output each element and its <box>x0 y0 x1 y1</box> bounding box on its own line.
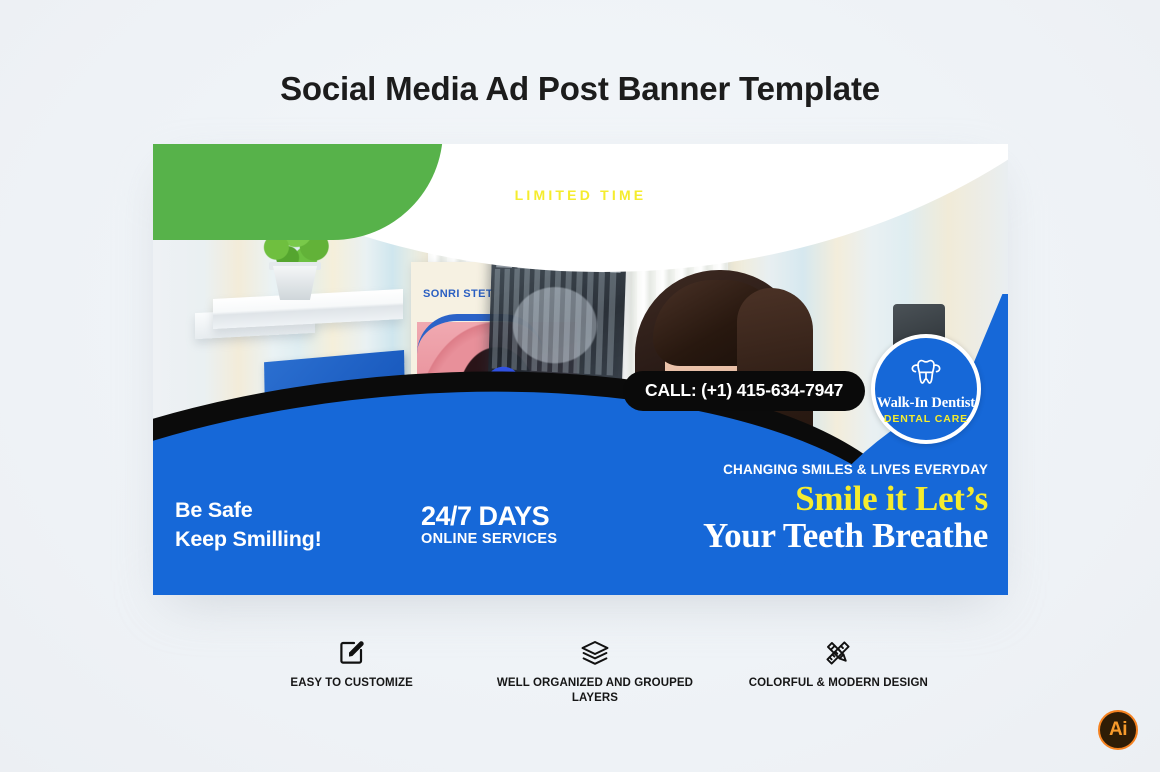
special-offer-main: Special Offer* <box>153 156 1008 186</box>
service-hours-sub: ONLINE SERVICES <box>421 531 557 547</box>
feature-label: COLORFUL & MODERN DESIGN <box>717 676 960 691</box>
adobe-illustrator-badge[interactable]: Ai <box>1098 710 1138 750</box>
headline-line2: Your Teeth Breathe <box>703 517 988 556</box>
page-title: Social Media Ad Post Banner Template <box>0 70 1160 108</box>
adobe-illustrator-label: Ai <box>1109 719 1127 741</box>
left-slogan-line1: Be Safe <box>175 496 322 525</box>
special-offer-sub: LIMITED TIME <box>153 187 1008 203</box>
left-slogan-line2: Keep Smilling! <box>175 525 322 554</box>
logo-badge-subtitle: DENTAL CARE <box>884 413 968 425</box>
layers-stack-icon <box>473 636 716 670</box>
service-hours-block: 24/7 DAYS ONLINE SERVICES <box>421 502 557 547</box>
tooth-icon <box>909 358 943 393</box>
ruler-pencil-cross-icon <box>717 636 960 670</box>
headline-line1: Smile it Let’s <box>703 480 988 519</box>
plant-pot <box>273 266 317 300</box>
headline-kicker: CHANGING SMILES & LIVES EVERYDAY <box>703 462 988 477</box>
feature-item: COLORFUL & MODERN DESIGN <box>717 636 960 691</box>
headline-block: CHANGING SMILES & LIVES EVERYDAY Smile i… <box>703 462 988 555</box>
feature-label: EASY TO CUSTOMIZE <box>230 676 473 691</box>
banner-artwork[interactable]: DETRAS DE CADA sonrisa HAZ UN EXCELENTE … <box>153 144 1008 595</box>
call-phone-pill[interactable]: CALL: (+1) 415-634-7947 <box>623 371 865 411</box>
service-hours-main: 24/7 DAYS <box>421 502 557 530</box>
special-offer-heading: Special Offer* LIMITED TIME <box>153 156 1008 203</box>
feature-list: EASY TO CUSTOMIZE WELL ORGANIZED AND GRO… <box>230 636 960 706</box>
poster-title: SONRI STET <box>423 288 493 300</box>
left-slogan: Be Safe Keep Smilling! <box>175 496 322 553</box>
logo-badge-name: Walk-In Dentist <box>877 395 975 412</box>
feature-item: EASY TO CUSTOMIZE <box>230 636 473 691</box>
feature-label: WELL ORGANIZED AND GROUPED LAYERS <box>473 676 716 705</box>
feature-item: WELL ORGANIZED AND GROUPED LAYERS <box>473 636 716 705</box>
edit-pencil-square-icon <box>230 636 473 670</box>
logo-badge[interactable]: Walk-In Dentist DENTAL CARE <box>871 334 981 444</box>
